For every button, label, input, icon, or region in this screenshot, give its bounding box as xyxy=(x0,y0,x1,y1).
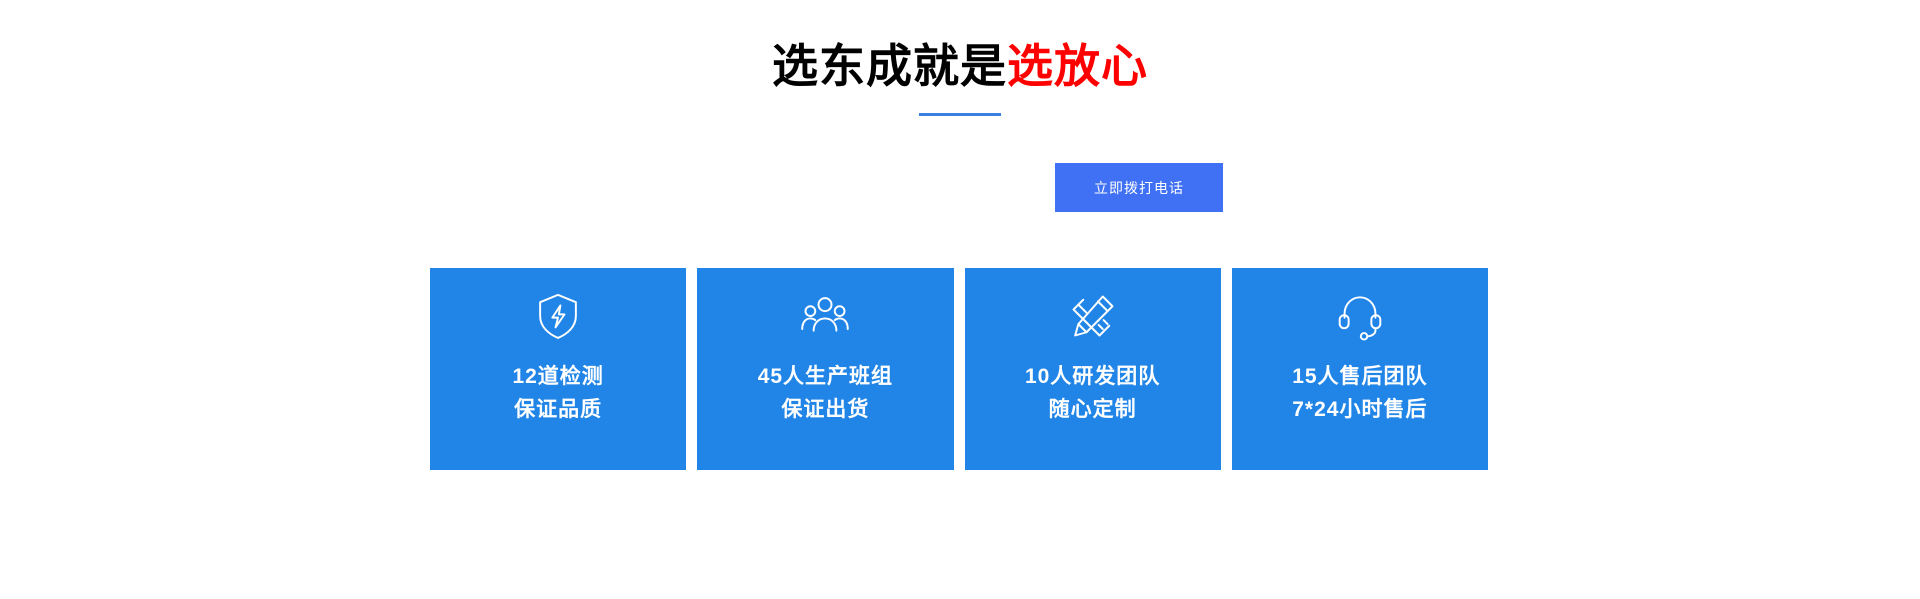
people-group-icon xyxy=(797,288,853,344)
feature-card-text: 10人研发团队 随心定制 xyxy=(1025,360,1160,426)
call-now-button[interactable]: 立即拨打电话 xyxy=(1055,163,1223,212)
cta-container: 立即拨打电话 xyxy=(1055,163,1223,212)
feature-card-text: 45人生产班组 保证出货 xyxy=(758,360,893,426)
feature-card-quality[interactable]: 12道检测 保证品质 xyxy=(430,268,686,470)
feature-card-line1: 45人生产班组 xyxy=(758,360,893,393)
page-title-accent: 选放心 xyxy=(1007,40,1148,92)
feature-card-production[interactable]: 45人生产班组 保证出货 xyxy=(697,268,953,470)
feature-card-line2: 保证品质 xyxy=(512,393,603,426)
section-heading: 选东成就是选放心 xyxy=(0,38,1920,94)
feature-card-text: 15人售后团队 7*24小时售后 xyxy=(1292,360,1427,426)
shield-lightning-icon xyxy=(530,288,586,344)
feature-card-line1: 15人售后团队 xyxy=(1292,360,1427,393)
feature-card-list: 12道检测 保证品质 45人生产班组 保证出货 xyxy=(430,268,1488,470)
feature-card-rnd[interactable]: 10人研发团队 随心定制 xyxy=(965,268,1221,470)
pencil-ruler-icon xyxy=(1065,288,1121,344)
feature-card-line1: 12道检测 xyxy=(512,360,603,393)
page-title: 选东成就是选放心 xyxy=(0,38,1920,94)
promo-section: 选东成就是选放心 立即拨打电话 12道检测 保证品质 xyxy=(0,0,1920,599)
feature-card-text: 12道检测 保证品质 xyxy=(512,360,603,426)
title-divider xyxy=(919,113,1001,116)
feature-card-line1: 10人研发团队 xyxy=(1025,360,1160,393)
feature-card-support[interactable]: 15人售后团队 7*24小时售后 xyxy=(1232,268,1488,470)
page-title-primary: 选东成就是 xyxy=(772,40,1007,92)
feature-card-line2: 随心定制 xyxy=(1025,393,1160,426)
headset-icon xyxy=(1332,288,1388,344)
feature-card-line2: 7*24小时售后 xyxy=(1292,393,1427,426)
feature-card-line2: 保证出货 xyxy=(758,393,893,426)
